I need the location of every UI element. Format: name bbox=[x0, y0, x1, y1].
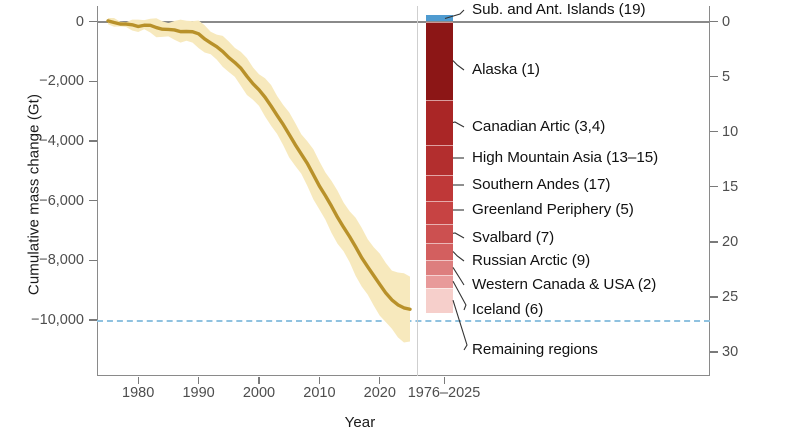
y-tick-right-0-mark bbox=[710, 21, 718, 22]
y-tick-right-6-mark bbox=[710, 351, 718, 352]
bar-segment-5 bbox=[426, 201, 453, 224]
y-tick-left-0: 0 bbox=[0, 14, 84, 30]
bar-segment-label-9: Iceland (6) bbox=[472, 301, 543, 318]
y-tick-right-0: 0 bbox=[722, 14, 762, 30]
x-tick-3: 2010 bbox=[303, 385, 335, 401]
panel-divider-line bbox=[417, 6, 418, 376]
bar-segment-label-4: Southern Andes (17) bbox=[472, 176, 610, 193]
total-sea-level-dashed-line bbox=[97, 320, 710, 322]
x-tick-1-mark bbox=[198, 377, 199, 384]
bar-segment-2 bbox=[426, 100, 453, 146]
frame-bottom-spine bbox=[97, 375, 710, 376]
x-tick-0: 1980 bbox=[122, 385, 154, 401]
y-tick-right-3-mark bbox=[710, 186, 718, 187]
bar-segment-4 bbox=[426, 175, 453, 200]
y-tick-left-1-mark bbox=[89, 81, 97, 82]
bar-segment-label-6: Svalbard (7) bbox=[472, 229, 554, 246]
y-tick-left-4: −8,000 bbox=[0, 252, 84, 268]
y-tick-right-2-mark bbox=[710, 131, 718, 132]
y-tick-right-1: 5 bbox=[722, 69, 762, 85]
bar-segment-7 bbox=[426, 243, 453, 260]
figure-panel: Cumulative mass change (Gt) Sea-level eq… bbox=[0, 0, 800, 430]
y-tick-right-6: 30 bbox=[722, 344, 762, 360]
bar-segment-label-2: Canadian Artic (3,4) bbox=[472, 118, 605, 135]
y-tick-left-2-mark bbox=[89, 140, 97, 141]
x-tick-0-mark bbox=[138, 377, 139, 384]
bar-segment-label-10: Remaining regions bbox=[472, 341, 598, 358]
bar-segment-label-0: Sub. and Ant. Islands (19) bbox=[472, 1, 645, 18]
y-tick-right-5-mark bbox=[710, 296, 718, 297]
bar-segment-6 bbox=[426, 224, 453, 243]
zero-reference-line bbox=[97, 21, 710, 23]
bar-segment-label-8: Western Canada & USA (2) bbox=[472, 276, 656, 293]
y-tick-left-3: −6,000 bbox=[0, 193, 84, 209]
y-tick-left-4-mark bbox=[89, 260, 97, 261]
y-tick-right-3: 15 bbox=[722, 179, 762, 195]
y-tick-right-4-mark bbox=[710, 241, 718, 242]
y-tick-left-5: −10,000 bbox=[0, 312, 84, 328]
bar-segment-label-5: Greenland Periphery (5) bbox=[472, 201, 634, 218]
y-tick-right-5: 25 bbox=[722, 289, 762, 305]
x-tick-4-mark bbox=[379, 377, 380, 384]
bar-segment-10 bbox=[426, 288, 453, 313]
x-tick-3-mark bbox=[319, 377, 320, 384]
bar-segment-1 bbox=[426, 22, 453, 100]
bar-segment-3 bbox=[426, 145, 453, 175]
bar-segment-9 bbox=[426, 275, 453, 288]
y-tick-right-2: 10 bbox=[722, 124, 762, 140]
bar-segment-label-7: Russian Arctic (9) bbox=[472, 252, 590, 269]
x-tick-2-mark bbox=[258, 377, 259, 384]
x-tick-4: 2020 bbox=[364, 385, 396, 401]
inset-category-tickmark bbox=[444, 377, 445, 384]
y-tick-right-4: 20 bbox=[722, 234, 762, 250]
x-tick-1: 1990 bbox=[182, 385, 214, 401]
y-tick-left-3-mark bbox=[89, 200, 97, 201]
bar-segment-label-1: Alaska (1) bbox=[472, 61, 540, 78]
y-tick-left-5-mark bbox=[89, 319, 97, 320]
x-tick-2: 2000 bbox=[243, 385, 275, 401]
y-tick-left-2: −4,000 bbox=[0, 133, 84, 149]
bar-segment-label-3: High Mountain Asia (13–15) bbox=[472, 149, 658, 166]
bar-segment-8 bbox=[426, 260, 453, 275]
y-tick-left-1: −2,000 bbox=[0, 73, 84, 89]
inset-category-label: 1976–2025 bbox=[408, 385, 481, 401]
y-tick-left-0-mark bbox=[89, 21, 97, 22]
y-tick-right-1-mark bbox=[710, 76, 718, 77]
regional-contribution-stacked-bar bbox=[426, 0, 453, 430]
